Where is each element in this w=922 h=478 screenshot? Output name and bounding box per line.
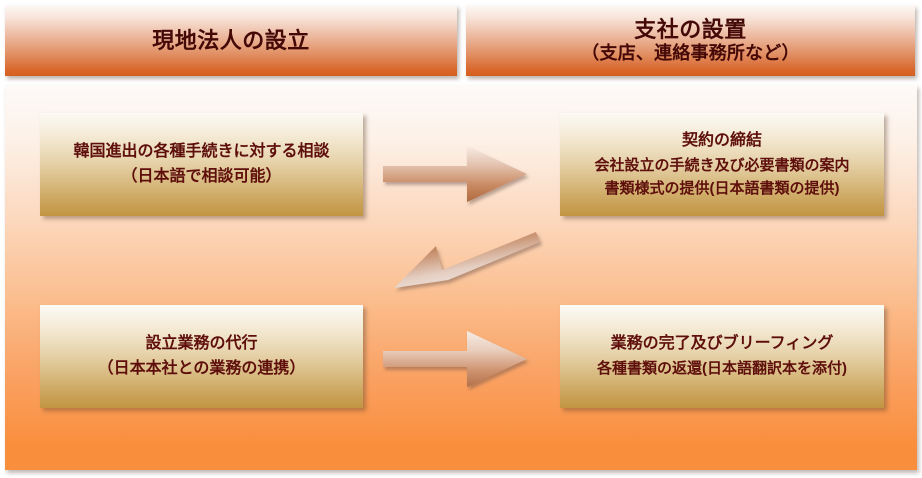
diagram-canvas: 現地法人の設立 支社の設置 （支店、連絡事務所など） 韓国進出の各種手続きに対す… bbox=[0, 0, 922, 478]
box-tr-line-3: 書類様式の提供(日本語書類の提供) bbox=[605, 177, 840, 200]
box-tl-line-1: 韓国進出の各種手続きに対する相談 bbox=[73, 140, 329, 165]
box-tr-line-1: 契約の締結 bbox=[682, 129, 762, 154]
box-tr-line-2: 会社設立の手続き及び必要書類の案内 bbox=[594, 154, 849, 177]
arrow-return-shape bbox=[394, 232, 540, 288]
diagram-body-panel: 韓国進出の各種手続きに対する相談 （日本語で相談可能） 契約の締結 会社設立の手… bbox=[5, 85, 917, 470]
header-banner-left: 現地法人の設立 bbox=[5, 5, 457, 76]
header-right-title: 支社の設置 bbox=[634, 17, 747, 43]
box-tl-line-2: （日本語で相談可能） bbox=[121, 165, 281, 190]
header-left-title: 現地法人の設立 bbox=[152, 28, 310, 54]
box-bl-line-2: （日本本社との業務の連携） bbox=[98, 357, 306, 382]
arrow-return-diagonal-icon bbox=[392, 226, 552, 310]
box-br-line-1: 業務の完了及びブリーフィング bbox=[611, 332, 834, 357]
box-br-line-2: 各種書類の返還(日本語翻訳本を添付) bbox=[597, 357, 847, 380]
header-right-subtitle: （支店、連絡事務所など） bbox=[581, 43, 799, 65]
process-box-bottom-left: 設立業務の代行 （日本本社との業務の連携） bbox=[40, 305, 363, 408]
box-bl-line-1: 設立業務の代行 bbox=[145, 332, 257, 357]
header-banner-right: 支社の設置 （支店、連絡事務所など） bbox=[466, 5, 915, 76]
process-box-bottom-right: 業務の完了及びブリーフィング 各種書類の返還(日本語翻訳本を添付) bbox=[560, 305, 884, 408]
arrow-right-bottom-icon bbox=[375, 327, 555, 391]
arrow-right-top-icon bbox=[375, 142, 555, 206]
arrow-bottom-shape bbox=[383, 331, 527, 387]
process-box-top-left: 韓国進出の各種手続きに対する相談 （日本語で相談可能） bbox=[40, 113, 363, 216]
process-box-top-right: 契約の締結 会社設立の手続き及び必要書類の案内 書類様式の提供(日本語書類の提供… bbox=[560, 113, 884, 216]
arrow-top-shape bbox=[383, 146, 527, 202]
